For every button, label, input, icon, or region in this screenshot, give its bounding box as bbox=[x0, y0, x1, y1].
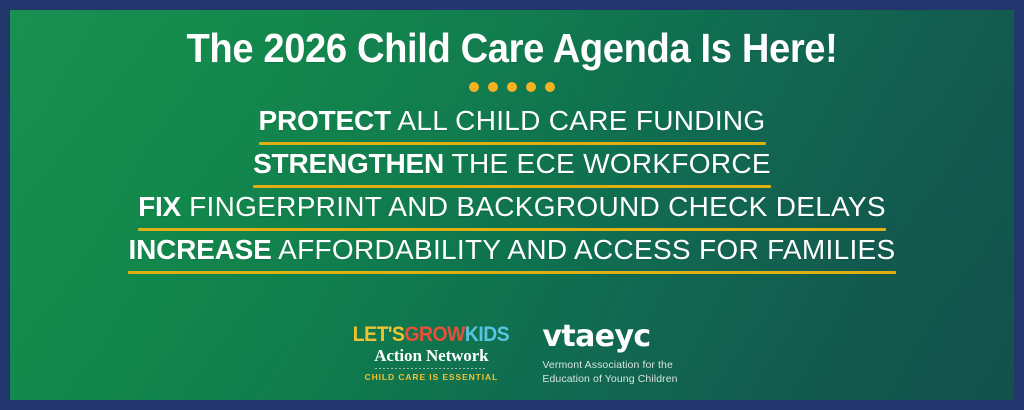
agenda-plank-text: INCREASE AFFORDABILITY AND ACCESS FOR FA… bbox=[128, 233, 895, 266]
banner-content: The 2026 Child Care Agenda Is Here! PROT… bbox=[10, 10, 1014, 400]
agenda-plank: STRENGTHEN THE ECE WORKFORCE bbox=[253, 147, 771, 188]
agenda-plank: FIX FINGERPRINT AND BACKGROUND CHECK DEL… bbox=[138, 190, 886, 231]
lgk-word-kids: KIDS bbox=[465, 324, 509, 345]
campaign-banner: The 2026 Child Care Agenda Is Here! PROT… bbox=[0, 0, 1024, 410]
agenda-plank-lead: FIX bbox=[138, 191, 181, 222]
vtaeyc-subtitle-line2: Education of Young Children bbox=[542, 372, 677, 386]
agenda-plank-lead: PROTECT bbox=[259, 105, 391, 136]
divider-dot bbox=[488, 82, 498, 92]
lgk-word-lets: LET'S bbox=[353, 324, 405, 345]
vtaeyc-subtitle: Vermont Association for the Education of… bbox=[542, 358, 677, 386]
agenda-plank-text: FIX FINGERPRINT AND BACKGROUND CHECK DEL… bbox=[138, 190, 886, 223]
agenda-plank-lead: STRENGTHEN bbox=[253, 148, 444, 179]
lgk-word-grow: GROW bbox=[405, 324, 465, 345]
divider-dot bbox=[507, 82, 517, 92]
agenda-plank-lead: INCREASE bbox=[128, 234, 271, 265]
dot-divider bbox=[469, 82, 555, 92]
agenda-plank: INCREASE AFFORDABILITY AND ACCESS FOR FA… bbox=[128, 233, 895, 274]
agenda-plank-text: STRENGTHEN THE ECE WORKFORCE bbox=[253, 147, 771, 180]
lgk-dotted-rule bbox=[375, 368, 487, 369]
agenda-plank-rest: AFFORDABILITY AND ACCESS FOR FAMILIES bbox=[272, 234, 896, 265]
agenda-plank-list: PROTECT ALL CHILD CARE FUNDING STRENGTHE… bbox=[10, 104, 1014, 276]
agenda-plank-rest: ALL CHILD CARE FUNDING bbox=[391, 105, 766, 136]
agenda-plank-underline bbox=[128, 271, 895, 274]
vtaeyc-subtitle-line1: Vermont Association for the bbox=[542, 358, 677, 372]
divider-dot bbox=[469, 82, 479, 92]
agenda-plank-text: PROTECT ALL CHILD CARE FUNDING bbox=[259, 104, 766, 137]
agenda-plank: PROTECT ALL CHILD CARE FUNDING bbox=[259, 104, 766, 145]
agenda-plank-underline bbox=[259, 142, 766, 145]
divider-dot bbox=[526, 82, 536, 92]
logo-row: LET'SGROWKIDS Action Network CHILD CARE … bbox=[10, 320, 1014, 386]
lgk-action-network-label: Action Network bbox=[374, 346, 488, 366]
lgk-tagline: CHILD CARE IS ESSENTIAL bbox=[365, 372, 499, 382]
vtaeyc-logo: vtaeyc Vermont Association for the Educa… bbox=[542, 320, 677, 386]
divider-dot bbox=[545, 82, 555, 92]
agenda-plank-underline bbox=[138, 228, 886, 231]
agenda-plank-rest: FINGERPRINT AND BACKGROUND CHECK DELAYS bbox=[181, 191, 886, 222]
agenda-plank-underline bbox=[253, 185, 771, 188]
agenda-plank-rest: THE ECE WORKFORCE bbox=[444, 148, 771, 179]
lets-grow-kids-logo: LET'SGROWKIDS Action Network CHILD CARE … bbox=[346, 320, 516, 383]
lets-grow-kids-wordmark: LET'SGROWKIDS bbox=[353, 324, 509, 345]
vtaeyc-wordmark: vtaeyc bbox=[542, 322, 650, 352]
banner-headline: The 2026 Child Care Agenda Is Here! bbox=[187, 27, 838, 70]
